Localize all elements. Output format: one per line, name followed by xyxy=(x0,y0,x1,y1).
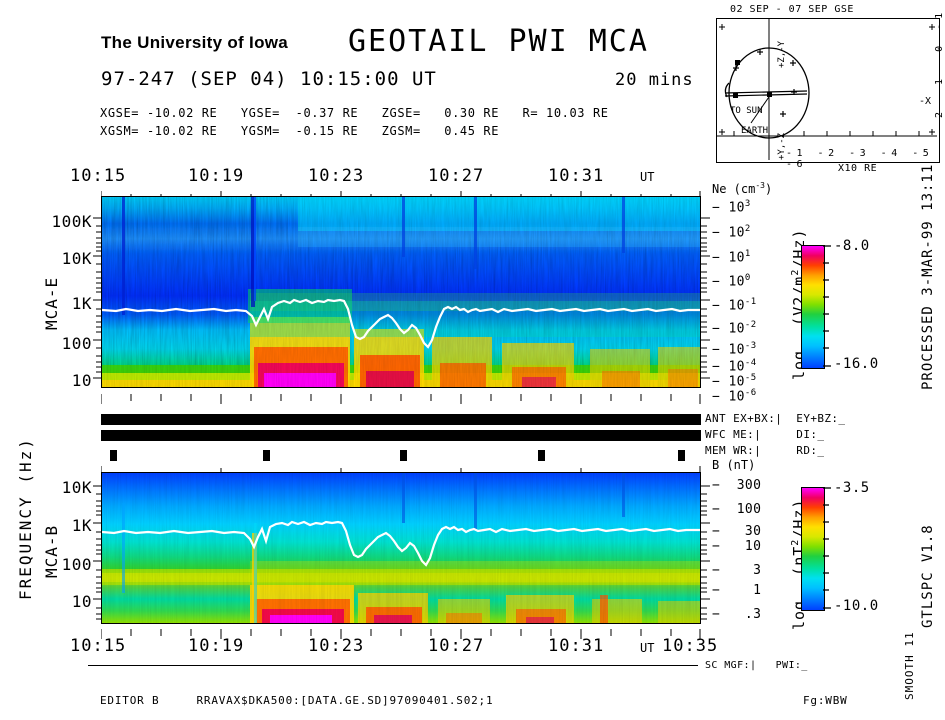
time-tick-bottom-0: 10:15 xyxy=(70,636,126,656)
orbit-label-lower-axis: +Y,-Z xyxy=(777,133,787,160)
gse-coordinates: XGSE= -10.02 RE YGSE= -0.37 RE ZGSE= 0.3… xyxy=(100,106,609,120)
panel-b-rtick-6: − .3 xyxy=(712,607,761,622)
time-tick-top-1: 10:19 xyxy=(188,166,244,186)
gsm-coordinates: XGSM= -10.02 RE YGSM= -0.15 RE ZGSM= 0.4… xyxy=(100,124,499,138)
orbit-label-minus-x: -X xyxy=(919,96,931,107)
svg-text:EARTH: EARTH xyxy=(741,126,768,136)
page-title: GEOTAIL PWI MCA xyxy=(348,24,649,59)
mca-b-spectrogram xyxy=(101,472,701,624)
panel-e-ytick-0: 100K xyxy=(20,212,92,231)
panel-e-ytick-1: 10K xyxy=(20,249,92,268)
sc-mgf-status: SC MGF:| PWI:_ xyxy=(705,660,808,671)
panel-e-rtick-7: − 10-4 xyxy=(712,358,757,374)
panel-b-colorbar-min: -10.0 xyxy=(834,598,879,614)
time-tick-top-2: 10:23 xyxy=(308,166,364,186)
panel-e-rtick-9: − 10-6 xyxy=(712,388,757,404)
orbit-y-ticks: 2 1 0 -1 -2 -3 xyxy=(934,0,945,118)
panel-b-colorbar xyxy=(801,487,825,611)
status-label-ant: ANT EX+BX:| EY+BZ:_ xyxy=(705,412,845,425)
panel-e-rtick-4: − 10-1 xyxy=(712,297,757,313)
figure-id-label: Fg:WBW xyxy=(803,694,848,707)
status-bar-mem xyxy=(101,446,701,457)
panel-b-rtick-2: − 30 xyxy=(712,524,761,539)
panel-b-rtick-0: − 300 xyxy=(712,478,761,493)
dateline-label: 97-247 (SEP 04) 10:15:00 UT xyxy=(101,68,437,90)
version-stamp: GTLSPC V1.8 xyxy=(920,524,936,628)
panel-e-rtick-6: − 10-3 xyxy=(712,341,757,357)
panel-e-ytick-2: 1K xyxy=(20,294,92,313)
orbit-label-upper-axis: +Z,-Y xyxy=(777,41,787,68)
panel-b-rtick-1: − 100 xyxy=(712,502,761,517)
mca-e-spectrogram xyxy=(101,196,701,388)
smooth-stamp: SMOOTH 11 xyxy=(903,631,916,700)
panel-b-right-ticks xyxy=(701,472,710,624)
panel-b-ytick-0: 10K xyxy=(20,478,92,497)
time-axis-bottom-ticks xyxy=(101,624,701,634)
time-axis-top-ticks xyxy=(101,186,701,196)
time-tick-bottom-2: 10:23 xyxy=(308,636,364,656)
status-label-mem: MEM WR:| RD:_ xyxy=(705,444,824,457)
panel-b-ytick-3: 10 xyxy=(20,592,92,611)
time-unit-top: UT xyxy=(640,170,654,184)
footer-divider xyxy=(88,665,698,666)
panel-b-rtick-5: − 1 xyxy=(712,583,761,598)
orbit-inset-plot: TO SUN EARTH xyxy=(716,18,940,163)
status-bar-wfc xyxy=(101,430,701,441)
status-bar-ant xyxy=(101,414,701,425)
panel-e-ytick-4: 10 xyxy=(20,371,92,390)
panel-b-ytick-2: 100 xyxy=(20,555,92,574)
panel-e-rtick-2: − 101 xyxy=(712,249,751,265)
mid-axis-ticks xyxy=(101,389,701,399)
time-tick-top-3: 10:27 xyxy=(428,166,484,186)
panel-b-colorbar-max: -3.5 xyxy=(834,480,870,496)
panel-e-right-axis-title: Ne (cm-3) xyxy=(712,181,772,196)
panel-e-colorbar-min: -16.0 xyxy=(834,356,879,372)
duration-label: 20 mins xyxy=(615,70,694,90)
panel-e-rtick-5: − 10-2 xyxy=(712,320,757,336)
time-tick-top-4: 10:31 xyxy=(548,166,604,186)
institution-label: The University of Iowa xyxy=(101,33,288,53)
time-tick-bottom-3: 10:27 xyxy=(428,636,484,656)
time-tick-top-0: 10:15 xyxy=(70,166,126,186)
panel-b-colorbar-ticks xyxy=(823,487,831,609)
time-tick-bottom-1: 10:19 xyxy=(188,636,244,656)
svg-text:TO SUN: TO SUN xyxy=(730,106,763,116)
panel-e-colorbar-ticks xyxy=(823,245,831,367)
panel-e-rtick-8: − 10-5 xyxy=(712,373,757,389)
panel-b-right-axis-title: B (nT) xyxy=(712,458,755,472)
status-label-wfc: WFC ME:| DI:_ xyxy=(705,428,824,441)
panel-e-ytick-3: 100 xyxy=(20,334,92,353)
mid-axis-ticks-lower xyxy=(101,460,701,469)
panel-e-colorbar-max: -8.0 xyxy=(834,238,870,254)
orbit-inset-title: 02 SEP - 07 SEP GSE xyxy=(730,4,854,15)
panel-e-rtick-1: − 102 xyxy=(712,224,751,240)
panel-e-rtick-3: − 100 xyxy=(712,273,751,289)
time-tick-bottom-end: 10:35 xyxy=(662,636,718,656)
panel-e-rtick-0: − 103 xyxy=(712,199,751,215)
time-tick-bottom-4: 10:31 xyxy=(548,636,604,656)
panel-b-ytick-1: 1K xyxy=(20,516,92,535)
panel-e-right-ticks xyxy=(701,196,710,388)
time-unit-bottom: UT xyxy=(640,641,654,655)
editor-path-label: EDITOR B RRAVAX$DKA500:[DATA.GE.SD]97090… xyxy=(100,694,493,707)
panel-b-rtick-3: − 10 xyxy=(712,539,761,554)
processed-stamp: PROCESSED 3-MAR-99 13:11 xyxy=(920,164,936,390)
panel-e-colorbar xyxy=(801,245,825,369)
panel-b-rtick-4: − 3 xyxy=(712,563,761,578)
